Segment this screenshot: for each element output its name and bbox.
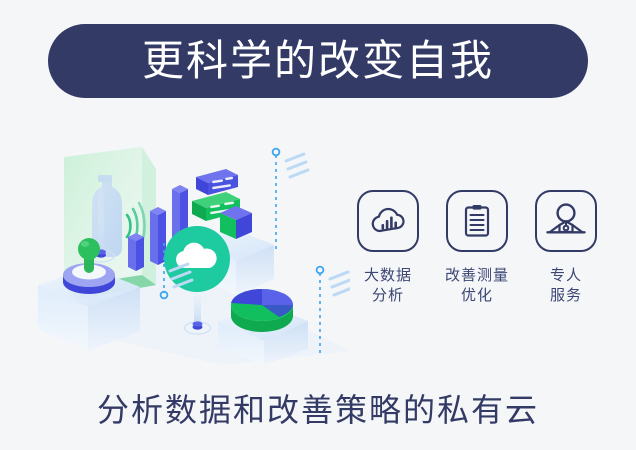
isometric-cube	[220, 206, 252, 239]
isometric-pie-chart	[231, 289, 293, 332]
feature-card-big-data[interactable]	[357, 190, 419, 252]
service-agent-icon	[544, 201, 588, 241]
feature-card-measurement[interactable]	[446, 190, 508, 252]
feature-list: 大数据 分析 改善测量 优化	[352, 190, 602, 320]
isometric-illustration	[20, 125, 350, 365]
banner-canvas: 更科学的改变自我	[0, 0, 636, 450]
feature-item-big-data[interactable]: 大数据 分析	[352, 190, 424, 307]
header-pill: 更科学的改变自我	[48, 24, 588, 98]
feature-card-service[interactable]	[535, 190, 597, 252]
feature-label-big-data: 大数据 分析	[364, 266, 412, 307]
feature-item-measurement[interactable]: 改善测量 优化	[441, 190, 513, 307]
page-title: 更科学的改变自我	[142, 40, 494, 82]
feature-item-service[interactable]: 专人 服务	[530, 190, 602, 307]
floating-badge-blue	[196, 169, 238, 195]
clipboard-lines-icon	[457, 201, 497, 241]
tagline: 分析数据和改善策略的私有云	[0, 385, 636, 431]
feature-label-measurement: 改善测量 优化	[445, 266, 509, 307]
cloud-bar-chart-icon	[368, 201, 408, 241]
feature-label-service: 专人 服务	[550, 266, 582, 307]
